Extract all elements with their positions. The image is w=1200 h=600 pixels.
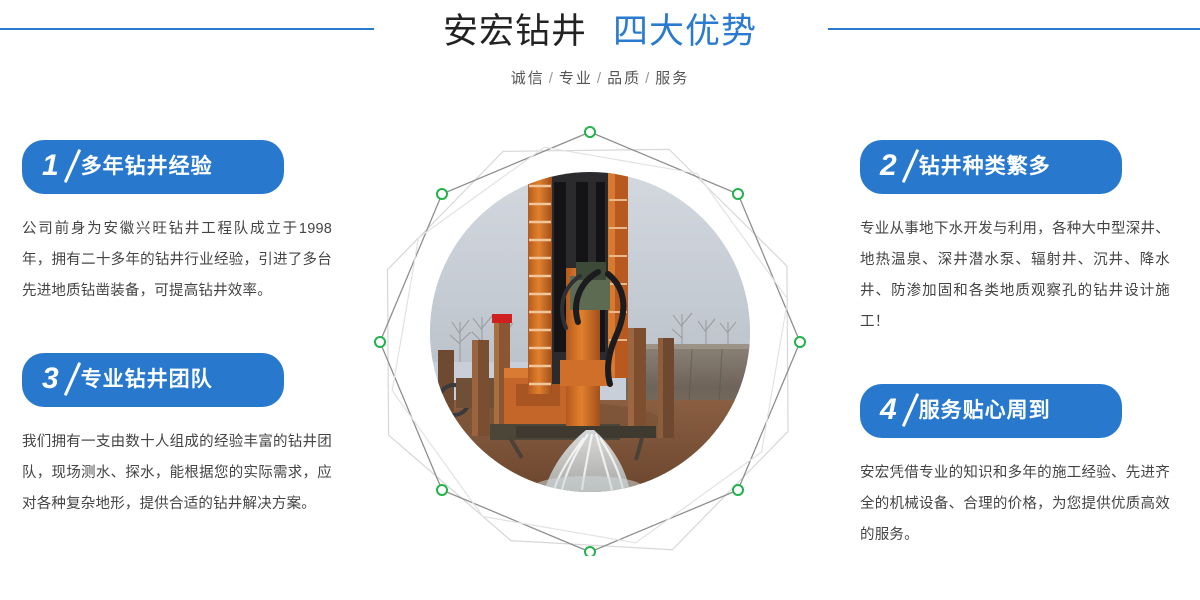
- feature-card-4: 4 服务贴心周到 安宏凭借专业的知识和多年的施工经验、先进齐全的机械设备、合理的…: [860, 384, 1190, 551]
- subtitle-separator-0: /: [549, 70, 555, 87]
- promo-page: 安宏钻井四大优势 诚信/专业/品质/服务 1 多年钻井经验 公司前身为安徽兴旺钻…: [0, 0, 1200, 600]
- drilling-rig-photo: [430, 172, 750, 492]
- feature-description-2: 专业从事地下水开发与利用，各种大中型深井、地热温泉、深井潜水泵、辐射井、沉井、降…: [860, 214, 1170, 338]
- subtitle-item-2: 品质: [607, 70, 641, 87]
- feature-number-badge-2: 2: [880, 151, 915, 181]
- page-title-accent: 四大优势: [613, 10, 757, 54]
- feature-number-badge-3: 3: [42, 364, 77, 394]
- feature-banner-4[interactable]: 4 服务贴心周到: [860, 384, 1122, 438]
- feature-card-3: 3 专业钻井团队 我们拥有一支由数十人组成的经验丰富的钻井团队，现场测水、探水，…: [22, 353, 352, 520]
- feature-title-2: 钻井种类繁多: [919, 155, 1051, 179]
- ring-node-right: [795, 337, 805, 347]
- feature-description-4: 安宏凭借专业的知识和多年的施工经验、先进齐全的机械设备、合理的价格，为您提供优质…: [860, 458, 1170, 551]
- ring-node-top: [585, 127, 595, 137]
- page-title-main: 安宏钻井: [443, 10, 587, 54]
- feature-description-1: 公司前身为安徽兴旺钻井工程队成立于1998年，拥有二十多年的钻井行业经验，引进了…: [22, 214, 332, 307]
- feature-card-1: 1 多年钻井经验 公司前身为安徽兴旺钻井工程队成立于1998年，拥有二十多年的钻…: [22, 140, 352, 307]
- feature-banner-3[interactable]: 3 专业钻井团队: [22, 353, 284, 407]
- feature-number-badge-1: 1: [42, 151, 77, 181]
- feature-banner-2[interactable]: 2 钻井种类繁多: [860, 140, 1122, 194]
- subtitle-item-1: 专业: [559, 70, 593, 87]
- feature-title-3: 专业钻井团队: [81, 368, 213, 392]
- feature-card-2: 2 钻井种类繁多 专业从事地下水开发与利用，各种大中型深井、地热温泉、深井潜水泵…: [860, 140, 1190, 338]
- page-header: 安宏钻井四大优势 诚信/专业/品质/服务: [0, 0, 1200, 112]
- center-graphic: [372, 116, 808, 556]
- subtitle-item-3: 服务: [655, 70, 689, 87]
- page-title: 安宏钻井四大优势: [0, 10, 1200, 54]
- subtitle-separator-1: /: [597, 70, 603, 87]
- feature-title-1: 多年钻井经验: [81, 155, 213, 179]
- subtitle-separator-2: /: [645, 70, 651, 87]
- subtitle-item-0: 诚信: [511, 70, 545, 87]
- feature-number-badge-4: 4: [880, 395, 915, 425]
- feature-title-4: 服务贴心周到: [919, 399, 1051, 423]
- ring-node-left: [375, 337, 385, 347]
- page-subtitle: 诚信/专业/品质/服务: [0, 68, 1200, 90]
- feature-column-right: 2 钻井种类繁多 专业从事地下水开发与利用，各种大中型深井、地热温泉、深井潜水泵…: [860, 140, 1190, 551]
- feature-column-left: 1 多年钻井经验 公司前身为安徽兴旺钻井工程队成立于1998年，拥有二十多年的钻…: [22, 140, 352, 520]
- drilling-rig-illustration: [430, 172, 750, 492]
- feature-description-3: 我们拥有一支由数十人组成的经验丰富的钻井团队，现场测水、探水，能根据您的实际需求…: [22, 427, 332, 520]
- feature-banner-1[interactable]: 1 多年钻井经验: [22, 140, 284, 194]
- ring-node-bottom: [585, 547, 595, 556]
